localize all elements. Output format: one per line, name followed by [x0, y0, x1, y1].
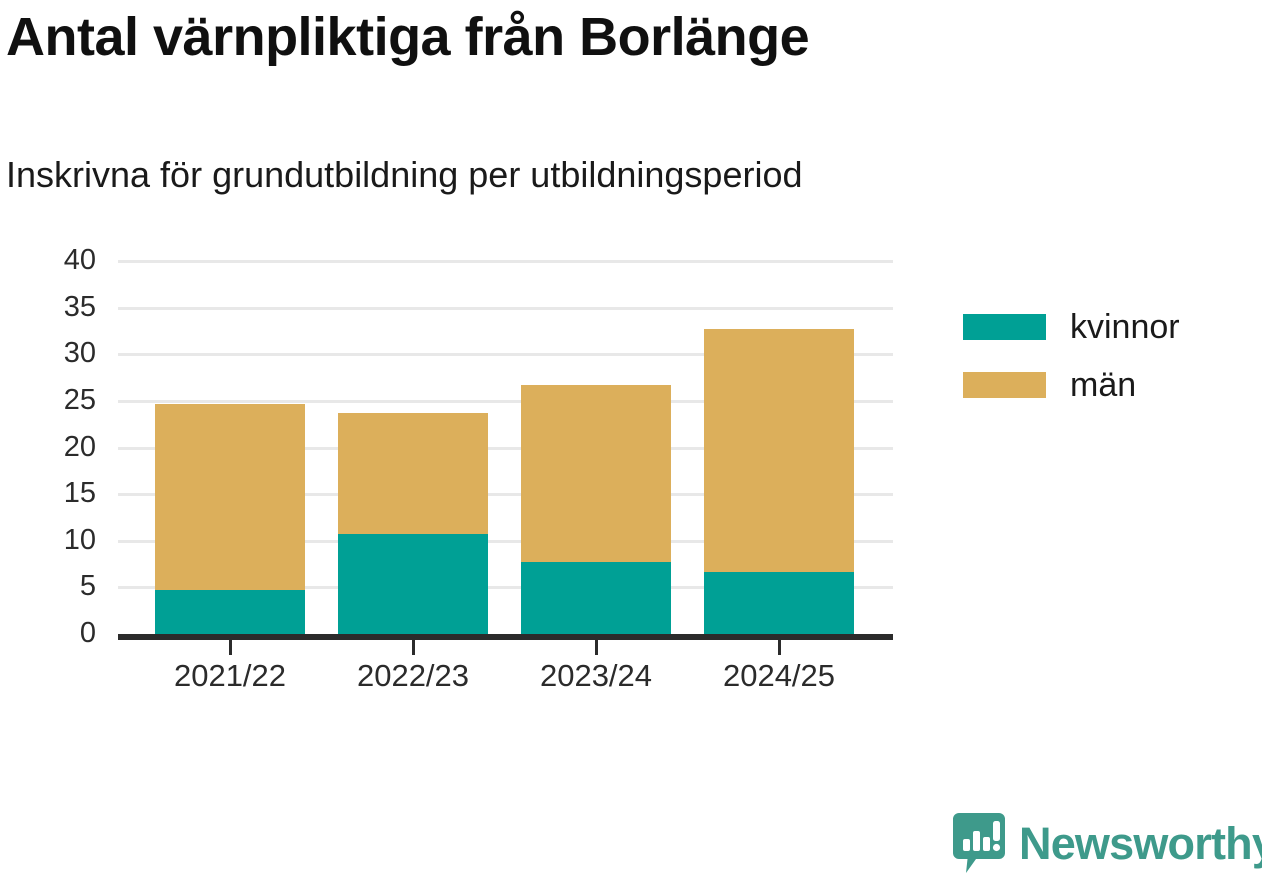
bar-segment-kvinnor[interactable]	[704, 572, 854, 637]
bar-segment-kvinnor[interactable]	[521, 562, 671, 637]
x-tick-mark	[229, 640, 232, 655]
legend-swatch-män	[963, 372, 1046, 398]
x-tick-mark	[595, 640, 598, 655]
bar-group[interactable]	[338, 413, 488, 637]
bar-segment-män[interactable]	[338, 413, 488, 534]
bar-group[interactable]	[521, 385, 671, 637]
legend-label: män	[1070, 368, 1136, 402]
x-tick-label: 2024/25	[669, 660, 889, 691]
bar-segment-kvinnor[interactable]	[155, 590, 305, 637]
chart-legend: kvinnormän	[963, 298, 1180, 414]
page-title: Antal värnpliktiga från Borlänge	[6, 8, 809, 67]
legend-item-kvinnor[interactable]: kvinnor	[963, 298, 1180, 356]
bar-group[interactable]	[155, 404, 305, 637]
legend-swatch-kvinnor	[963, 314, 1046, 340]
brand-wordmark: Newsworthy	[1019, 821, 1262, 866]
bar-segment-kvinnor[interactable]	[338, 534, 488, 637]
chart-subtitle: Inskrivna för grundutbildning per utbild…	[6, 155, 803, 195]
newsworthy-logo: Newsworthy	[952, 812, 1262, 874]
legend-item-män[interactable]: män	[963, 356, 1180, 414]
bar-group[interactable]	[704, 329, 854, 637]
speech-bubble-bar-chart-icon	[952, 812, 1006, 874]
x-axis-line	[118, 634, 893, 640]
chart-plot-area: 0510152025303540 2021/222022/232023/2420…	[0, 240, 930, 710]
x-tick-mark	[412, 640, 415, 655]
x-tick-mark	[778, 640, 781, 655]
bar-segment-män[interactable]	[155, 404, 305, 591]
legend-label: kvinnor	[1070, 310, 1180, 344]
bar-segment-män[interactable]	[521, 385, 671, 562]
bar-segment-män[interactable]	[704, 329, 854, 571]
